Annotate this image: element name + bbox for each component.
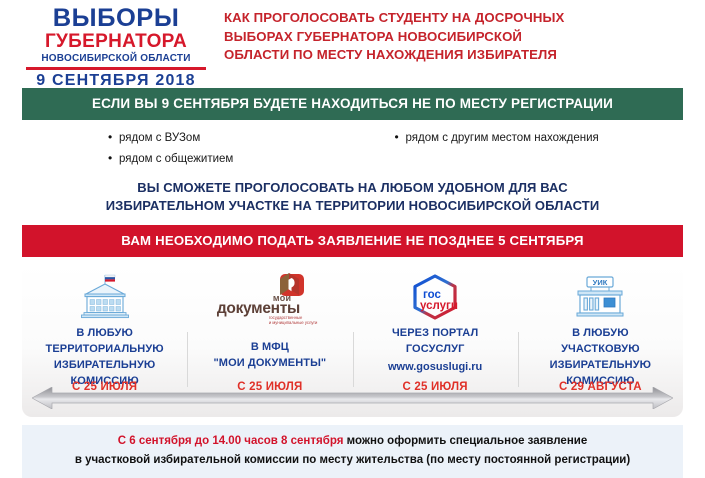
card-title-line-1: ЧЕРЕЗ ПОРТАЛ xyxy=(357,326,514,342)
uik-sign-label: УИК xyxy=(593,278,608,287)
card-title: ЧЕРЕЗ ПОРТАЛ ГОСУСЛУГ xyxy=(353,326,518,358)
mfc-moi-dokumenty-logo: мои документы государственные и муниципа… xyxy=(187,270,352,326)
logo-line-oblasti: НОВОСИБИРСКОЙ ОБЛАСТИ xyxy=(22,53,210,65)
government-building-icon xyxy=(22,270,187,326)
gosuslugi-logo: гос услуги xyxy=(353,270,518,326)
card-title-line-1: В ЛЮБУЮ xyxy=(26,326,183,342)
card-title-line-2: ГОСУСЛУГ xyxy=(357,342,514,358)
page-header: ВЫБОРЫ ГУБЕРНАТОРА НОВОСИБИРСКОЙ ОБЛАСТИ… xyxy=(0,0,705,84)
card-title-line-2: "МОИ ДОКУМЕНТЫ" xyxy=(191,356,348,372)
bullet-dot-icon: • xyxy=(395,131,406,143)
bullet-column-right: • рядом с другим местом нахождения xyxy=(353,128,705,171)
card-start-date: С 25 ИЮЛЯ xyxy=(22,381,187,393)
mfc-logo-tagline: государственные и муниципальные услуги xyxy=(269,315,318,326)
card-title-line-3: ИЗБИРАТЕЛЬНУЮ xyxy=(26,358,183,374)
channel-card-gosuslugi[interactable]: гос услуги ЧЕРЕЗ ПОРТАЛ ГОСУСЛУГ www.gos… xyxy=(353,264,518,417)
page-title-line-3: ОБЛАСТИ ПО МЕСТУ НАХОЖДЕНИЯ ИЗБИРАТЕЛЯ xyxy=(224,46,693,65)
footer-line-2: в участковой избирательной комиссии по м… xyxy=(32,451,673,470)
mfc-tagline-line-2: и муниципальные услуги xyxy=(269,320,318,325)
card-start-date: С 25 ИЮЛЯ xyxy=(187,381,352,393)
card-title-line-1: В ЛЮБУЮ xyxy=(522,326,679,342)
channel-card-mfc[interactable]: мои документы государственные и муниципа… xyxy=(187,264,352,417)
condition-banner: ЕСЛИ ВЫ 9 СЕНТЯБРЯ БУДЕТЕ НАХОДИТЬСЯ НЕ … xyxy=(22,88,683,120)
middle-headline-line-2: ИЗБИРАТЕЛЬНОМ УЧАСТКЕ НА ТЕРРИТОРИИ НОВО… xyxy=(0,197,705,216)
logo-election-date: 9 СЕНТЯБРЯ 2018 xyxy=(22,72,210,90)
application-channels-panel: В ЛЮБУЮ ТЕРРИТОРИАЛЬНУЮ ИЗБИРАТЕЛЬНУЮ КО… xyxy=(22,264,683,417)
logo-line-gubernatora: ГУБЕРНАТОРА xyxy=(22,32,210,52)
card-start-date: С 29 АВГУСТА xyxy=(518,381,683,393)
footer-line-1: С 6 сентября до 14.00 часов 8 сентября м… xyxy=(32,432,673,451)
list-item-label: рядом с другим местом нахождения xyxy=(406,128,599,149)
list-item: • рядом с другим местом нахождения xyxy=(395,128,705,149)
election-logo: ВЫБОРЫ ГУБЕРНАТОРА НОВОСИБИРСКОЙ ОБЛАСТИ… xyxy=(0,0,210,90)
gosuslugi-url[interactable]: www.gosuslugi.ru xyxy=(353,361,518,373)
page-title-line-2: ВЫБОРАХ ГУБЕРНАТОРА НОВОСИБИРСКОЙ xyxy=(224,28,693,47)
bullet-column-left: • рядом с ВУЗом • рядом с общежитием xyxy=(0,128,353,171)
page-title: КАК ПРОГОЛОСОВАТЬ СТУДЕНТУ НА ДОСРОЧНЫХ … xyxy=(210,0,705,65)
card-title-line-2: УЧАСТКОВУЮ xyxy=(522,342,679,358)
list-item: • рядом с ВУЗом xyxy=(108,128,353,149)
deadline-banner: ВАМ НЕОБХОДИМО ПОДАТЬ ЗАЯВЛЕНИЕ НЕ ПОЗДН… xyxy=(22,225,683,257)
middle-headline: ВЫ СМОЖЕТЕ ПРОГОЛОСОВАТЬ НА ЛЮБОМ УДОБНО… xyxy=(0,179,705,217)
logo-divider-rule xyxy=(26,67,206,70)
bullet-dot-icon: • xyxy=(108,152,119,164)
card-title-line-3: ИЗБИРАТЕЛЬНУЮ xyxy=(522,358,679,374)
footer-highlight-dates: С 6 сентября до 14.00 часов 8 сентября xyxy=(118,435,344,447)
gosuslugi-text-bottom: услуги xyxy=(420,300,458,312)
footer-line-1-rest: можно оформить специальное заявление xyxy=(343,435,587,447)
bullet-dot-icon: • xyxy=(108,131,119,143)
page-title-line-1: КАК ПРОГОЛОСОВАТЬ СТУДЕНТУ НА ДОСРОЧНЫХ xyxy=(224,9,693,28)
list-item-label: рядом с ВУЗом xyxy=(119,128,200,149)
card-title-line-1: В МФЦ xyxy=(191,340,348,356)
uik-polling-station-icon: УИК xyxy=(518,270,683,326)
card-title-line-2: ТЕРРИТОРИАЛЬНУЮ xyxy=(26,342,183,358)
logo-line-vybory: ВЫБОРЫ xyxy=(20,6,212,31)
list-item-label: рядом с общежитием xyxy=(119,149,233,170)
card-title: В МФЦ "МОИ ДОКУМЕНТЫ" xyxy=(187,340,352,372)
footer-note: С 6 сентября до 14.00 часов 8 сентября м… xyxy=(22,425,683,478)
location-bullet-list: • рядом с ВУЗом • рядом с общежитием • р… xyxy=(0,120,705,171)
list-item: • рядом с общежитием xyxy=(108,149,353,170)
channel-card-precinct-commission[interactable]: УИК xyxy=(518,264,683,417)
card-start-date: С 25 ИЮЛЯ xyxy=(353,381,518,393)
channel-card-territorial-commission[interactable]: В ЛЮБУЮ ТЕРРИТОРИАЛЬНУЮ ИЗБИРАТЕЛЬНУЮ КО… xyxy=(22,264,187,417)
middle-headline-line-1: ВЫ СМОЖЕТЕ ПРОГОЛОСОВАТЬ НА ЛЮБОМ УДОБНО… xyxy=(0,179,705,198)
